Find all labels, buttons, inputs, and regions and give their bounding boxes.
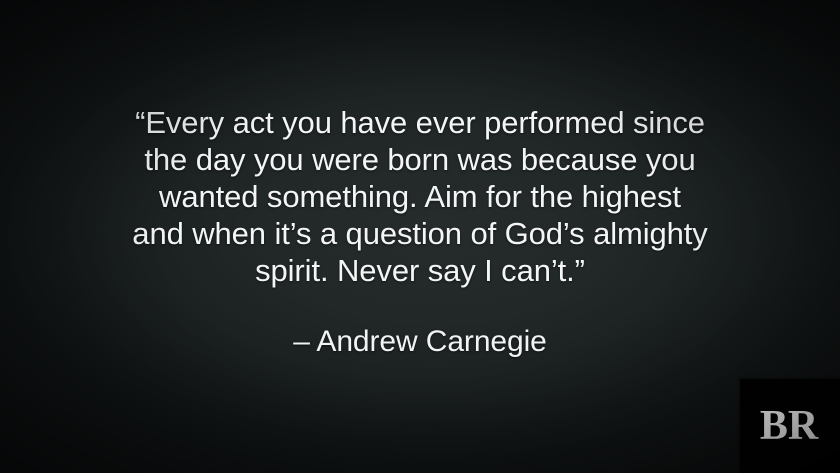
- quote-attribution: – Andrew Carnegie: [0, 324, 840, 360]
- quote-card: “Every act you have ever performed since…: [0, 0, 840, 473]
- brand-logo-text: BR: [760, 405, 818, 447]
- quote-block: “Every act you have ever performed since…: [0, 104, 840, 289]
- brand-logo-badge: BR: [740, 379, 840, 473]
- quote-text: “Every act you have ever performed since…: [66, 104, 774, 289]
